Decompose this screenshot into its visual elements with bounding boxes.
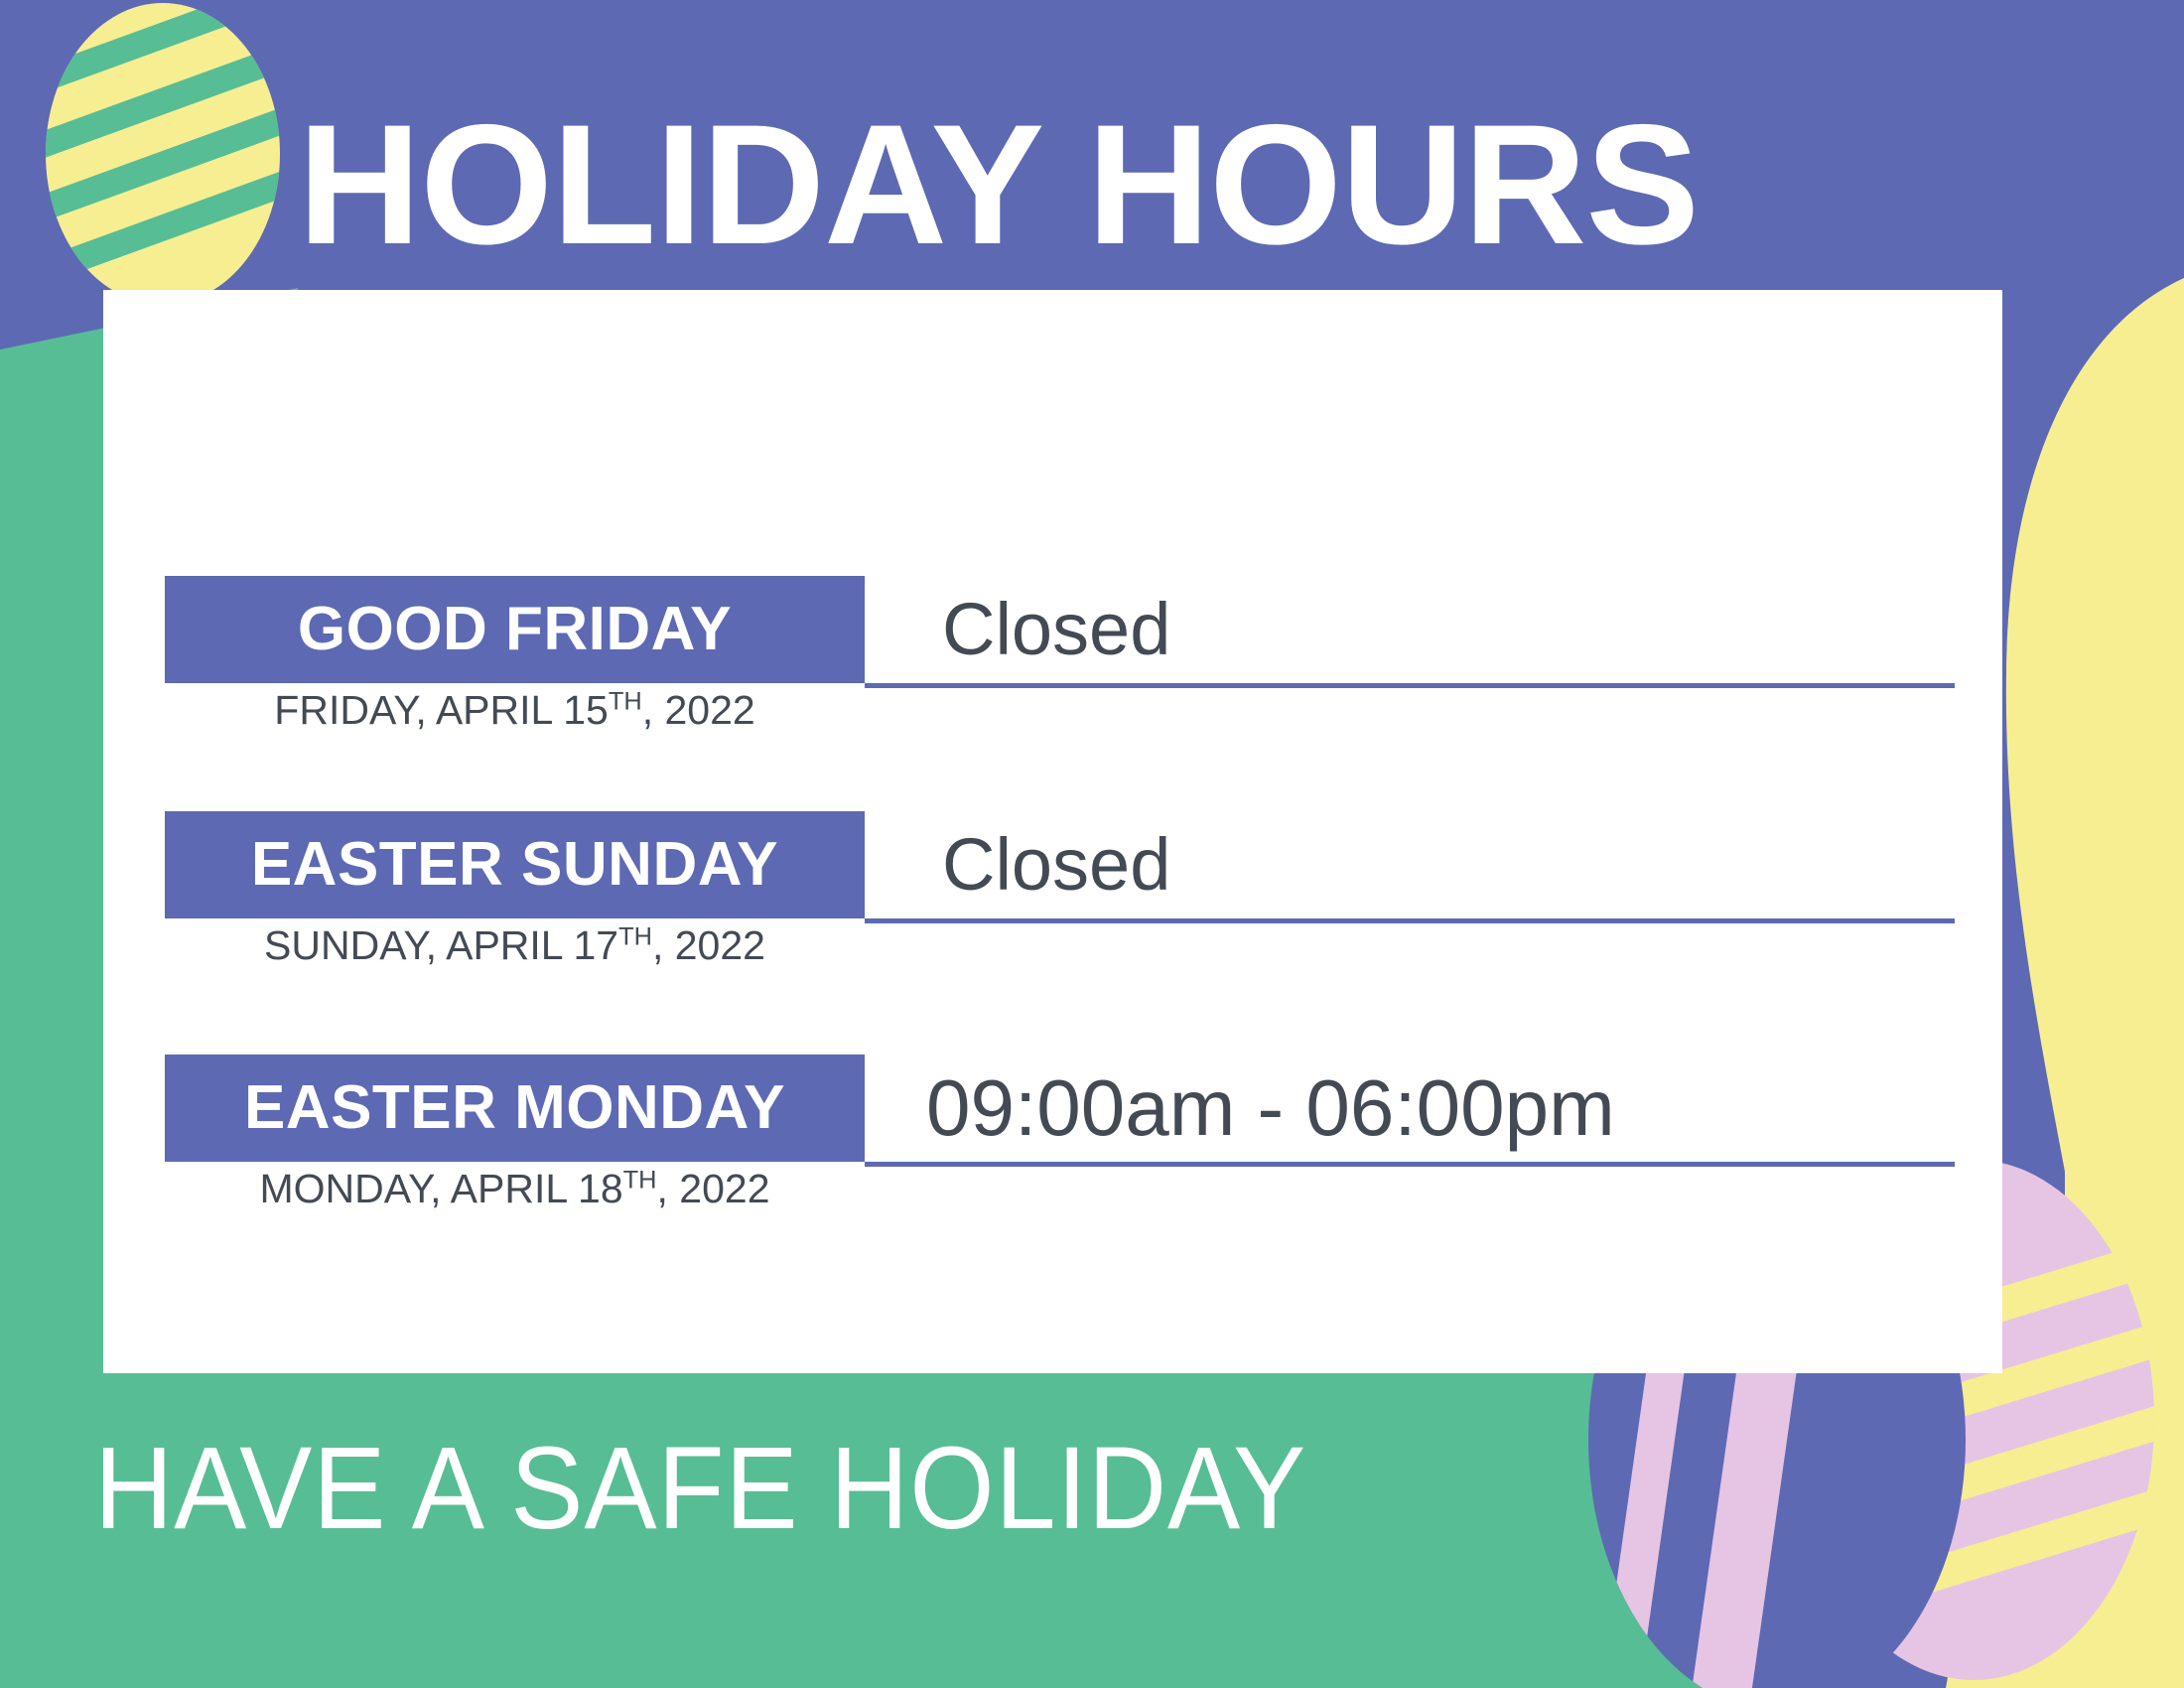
holiday-name-band: GOOD FRIDAY — [165, 576, 865, 683]
holiday-hours: Closed — [865, 828, 1170, 902]
holiday-date-prefix: MONDAY, APRIL 18 — [260, 1166, 623, 1211]
holiday-name: GOOD FRIDAY — [298, 599, 732, 660]
schedule-list: GOOD FRIDAY Closed FRIDAY, APRIL 15TH, 2… — [103, 290, 2002, 1373]
holiday-date-year: , 2022 — [642, 687, 755, 733]
holiday-name: EASTER MONDAY — [244, 1077, 785, 1139]
holiday-hours: Closed — [865, 593, 1170, 666]
tagline: HAVE A SAFE HOLIDAY — [94, 1430, 1306, 1547]
holiday-hours-poster: HOLIDAY HOURS GOOD FRIDAY Closed FRIDAY,… — [0, 0, 2184, 1688]
schedule-row: EASTER SUNDAY Closed SUNDAY, APRIL 17TH,… — [103, 811, 2002, 918]
holiday-name-band: EASTER MONDAY — [165, 1055, 865, 1162]
holiday-name-band: EASTER SUNDAY — [165, 811, 865, 918]
schedule-row: EASTER MONDAY 09:00am - 06:00pm MONDAY, … — [103, 1055, 2002, 1162]
holiday-date-prefix: FRIDAY, APRIL 15 — [274, 687, 609, 733]
holiday-date-ordinal: TH — [618, 922, 652, 950]
holiday-hours-cell: Closed — [865, 576, 1955, 688]
holiday-hours-cell: Closed — [865, 811, 1955, 923]
holiday-date-year: , 2022 — [657, 1166, 770, 1211]
page-title: HOLIDAY HOURS — [298, 99, 1985, 270]
holiday-name: EASTER SUNDAY — [251, 834, 778, 896]
holiday-hours-cell: 09:00am - 06:00pm — [865, 1055, 1955, 1167]
schedule-row: GOOD FRIDAY Closed FRIDAY, APRIL 15TH, 2… — [103, 576, 2002, 683]
holiday-date: SUNDAY, APRIL 17TH, 2022 — [165, 922, 865, 969]
holiday-date-ordinal: TH — [609, 687, 642, 715]
holiday-date-ordinal: TH — [623, 1166, 657, 1194]
holiday-date-prefix: SUNDAY, APRIL 17 — [264, 922, 618, 968]
holiday-date: FRIDAY, APRIL 15TH, 2022 — [165, 687, 865, 734]
holiday-date-year: , 2022 — [652, 922, 765, 968]
holiday-date: MONDAY, APRIL 18TH, 2022 — [165, 1166, 865, 1212]
holiday-hours: 09:00am - 06:00pm — [865, 1068, 1615, 1148]
